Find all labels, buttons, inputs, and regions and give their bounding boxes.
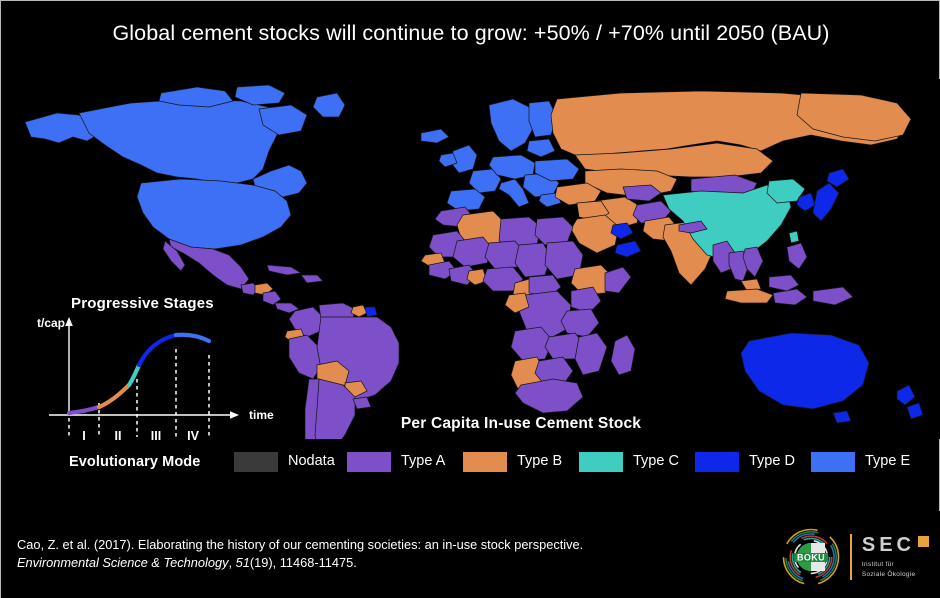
citation-text-3: (19), 11468-11475. bbox=[250, 555, 357, 570]
legend-swatch-type-a bbox=[347, 452, 391, 472]
legend-label-type-d: Type D bbox=[749, 453, 795, 469]
inset-chart-title: Progressive Stages bbox=[71, 295, 214, 312]
sec-logo-text: SEC bbox=[862, 535, 915, 555]
slide-root: Global cement stocks will continue to gr… bbox=[0, 0, 940, 598]
footer: Cao, Z. et al. (2017). Elaborating the h… bbox=[1, 511, 940, 598]
legend-label-type-b: Type B bbox=[517, 453, 562, 469]
curve-segment-type-b bbox=[99, 385, 129, 407]
sec-logo: SEC Institut für Soziale Ökologie bbox=[862, 535, 929, 579]
logo-group: BOKU SEC Institut für Soziale Ökologie bbox=[782, 529, 929, 585]
country-suriname bbox=[365, 307, 377, 317]
sec-subtitle-line-1: Institut für bbox=[862, 560, 929, 569]
legend-label-type-a: Type A bbox=[401, 453, 445, 469]
legend-label-type-e: Type E bbox=[865, 453, 910, 469]
inset-ylabel: t/cap bbox=[37, 316, 65, 330]
inset-chart-svg: time t/cap I II III IV bbox=[37, 315, 303, 445]
citation-text-2: , bbox=[229, 555, 236, 570]
s-curve bbox=[69, 335, 209, 413]
map-legend: Evolutionary Mode Nodata Type A Type B T… bbox=[1, 451, 940, 477]
legend-swatch-type-d bbox=[695, 452, 739, 472]
map-caption: Per Capita In-use Cement Stock bbox=[371, 415, 671, 433]
sec-mark-icon bbox=[918, 536, 929, 547]
stage-label-1: I bbox=[82, 429, 85, 443]
citation-journal: Environmental Science & Technology bbox=[17, 555, 229, 570]
legend-swatch-type-e bbox=[811, 452, 855, 472]
sec-subtitle-line-2: Soziale Ökologie bbox=[862, 570, 929, 579]
curve-segment-type-e bbox=[176, 335, 209, 341]
boku-logo-text: BOKU bbox=[797, 552, 825, 562]
logo-divider bbox=[850, 534, 852, 580]
y-axis-arrow bbox=[65, 317, 73, 326]
citation: Cao, Z. et al. (2017). Elaborating the h… bbox=[17, 536, 597, 572]
x-axis-arrow bbox=[230, 411, 239, 419]
citation-volume: 51 bbox=[236, 555, 250, 570]
stage-label-3: III bbox=[151, 429, 161, 443]
legend-title: Evolutionary Mode bbox=[69, 454, 200, 470]
legend-swatch-nodata bbox=[234, 452, 278, 472]
legend-label-nodata: Nodata bbox=[288, 453, 335, 469]
stage-label-2: II bbox=[115, 429, 122, 443]
inset-xlabel: time bbox=[249, 408, 274, 422]
progressive-stages-chart: Progressive Stages bbox=[37, 295, 303, 445]
curve-segment-type-a bbox=[69, 407, 99, 413]
country-egypt bbox=[535, 217, 573, 245]
inset-axes bbox=[49, 323, 233, 415]
legend-label-type-c: Type C bbox=[633, 453, 679, 469]
country-taiwan bbox=[789, 231, 799, 243]
legend-swatch-type-c bbox=[579, 452, 623, 472]
curve-segment-type-d bbox=[139, 335, 176, 365]
stage-label-4: IV bbox=[187, 429, 199, 443]
legend-swatch-type-b bbox=[463, 452, 507, 472]
citation-text-1: Cao, Z. et al. (2017). Elaborating the h… bbox=[17, 537, 583, 552]
boku-logo-icon: BOKU bbox=[782, 528, 840, 586]
page-title: Global cement stocks will continue to gr… bbox=[1, 21, 940, 46]
sec-word-row: SEC bbox=[862, 535, 929, 555]
